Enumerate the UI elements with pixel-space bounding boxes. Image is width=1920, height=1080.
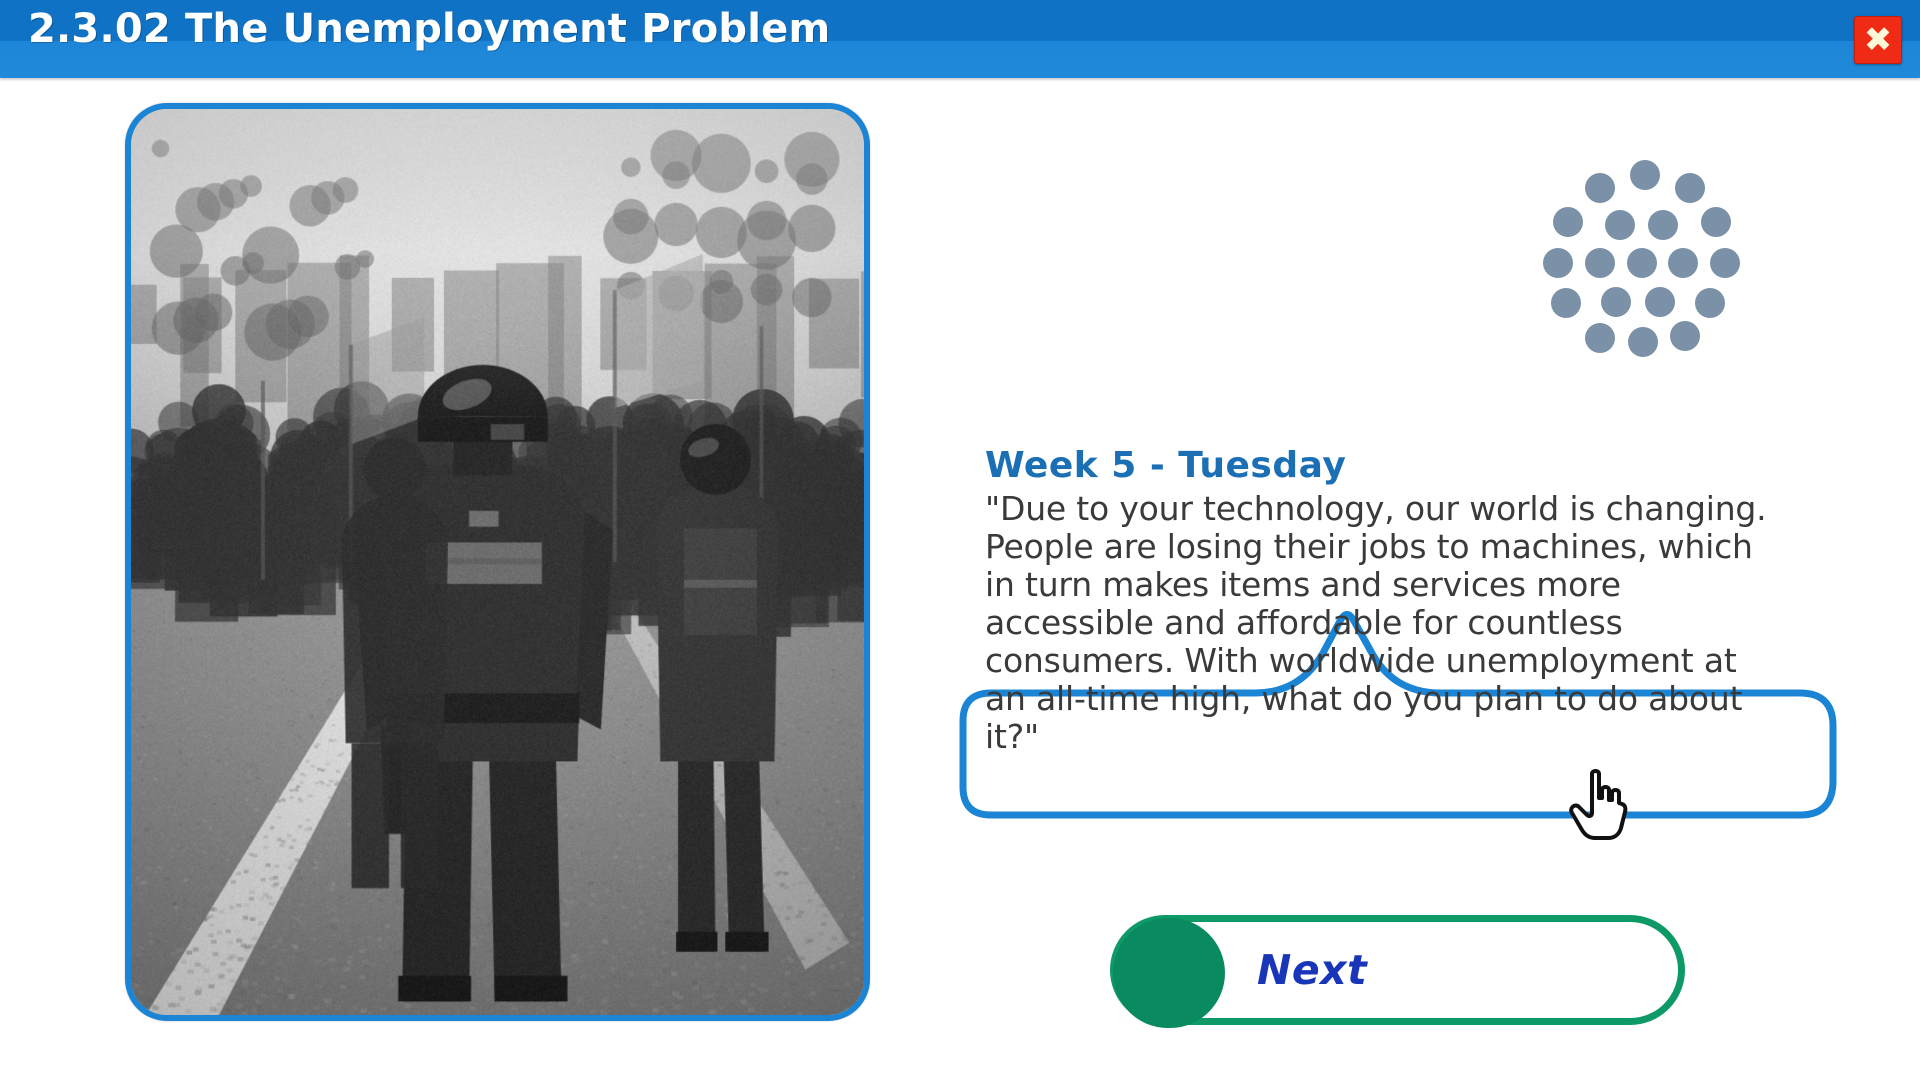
lesson-image <box>131 109 864 1015</box>
next-button[interactable]: Next <box>1110 915 1685 1025</box>
page-title: 2.3.02 The Unemployment Problem <box>28 6 830 52</box>
week-heading: Week 5 - Tuesday <box>985 448 1845 484</box>
close-icon: ✖ <box>1855 17 1901 63</box>
next-button-knob <box>1113 918 1225 1028</box>
close-button[interactable]: ✖ <box>1854 16 1902 64</box>
lesson-image-frame <box>125 103 870 1021</box>
next-button-label: Next <box>1257 946 1367 994</box>
pointing-hand-cursor <box>1568 768 1630 840</box>
dot-cluster-icon <box>1520 150 1770 365</box>
lesson-slide: 2.3.02 The Unemployment Problem ✖ <box>0 0 1920 1080</box>
bubble-text-block: Week 5 - Tuesday "Due to your technology… <box>985 448 1845 756</box>
title-bar: 2.3.02 The Unemployment Problem ✖ <box>0 0 1920 78</box>
quote-text: "Due to your technology, our world is ch… <box>985 490 1845 756</box>
